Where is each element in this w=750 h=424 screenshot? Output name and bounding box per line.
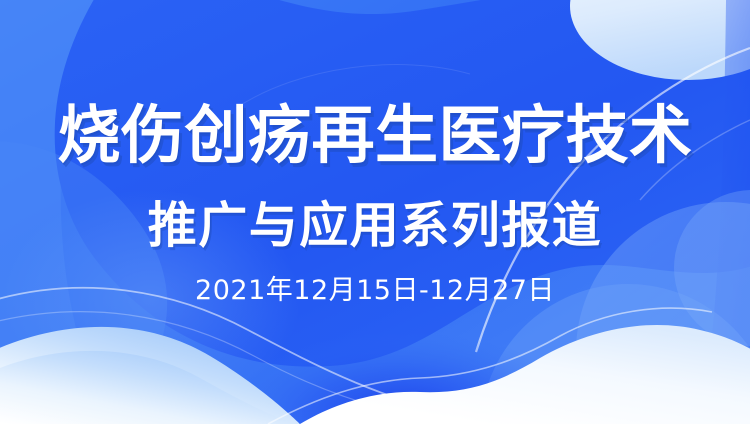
banner-content: 烧伤创疡再生医疗技术 推广与应用系列报道 2021年12月15日-12月27日 <box>0 0 750 424</box>
banner-date-range: 2021年12月15日-12月27日 <box>0 274 750 308</box>
banner-subtitle: 推广与应用系列报道 <box>0 196 750 256</box>
promo-banner: 烧伤创疡再生医疗技术 推广与应用系列报道 2021年12月15日-12月27日 <box>0 0 750 424</box>
banner-main-title: 烧伤创疡再生医疗技术 <box>0 99 750 173</box>
